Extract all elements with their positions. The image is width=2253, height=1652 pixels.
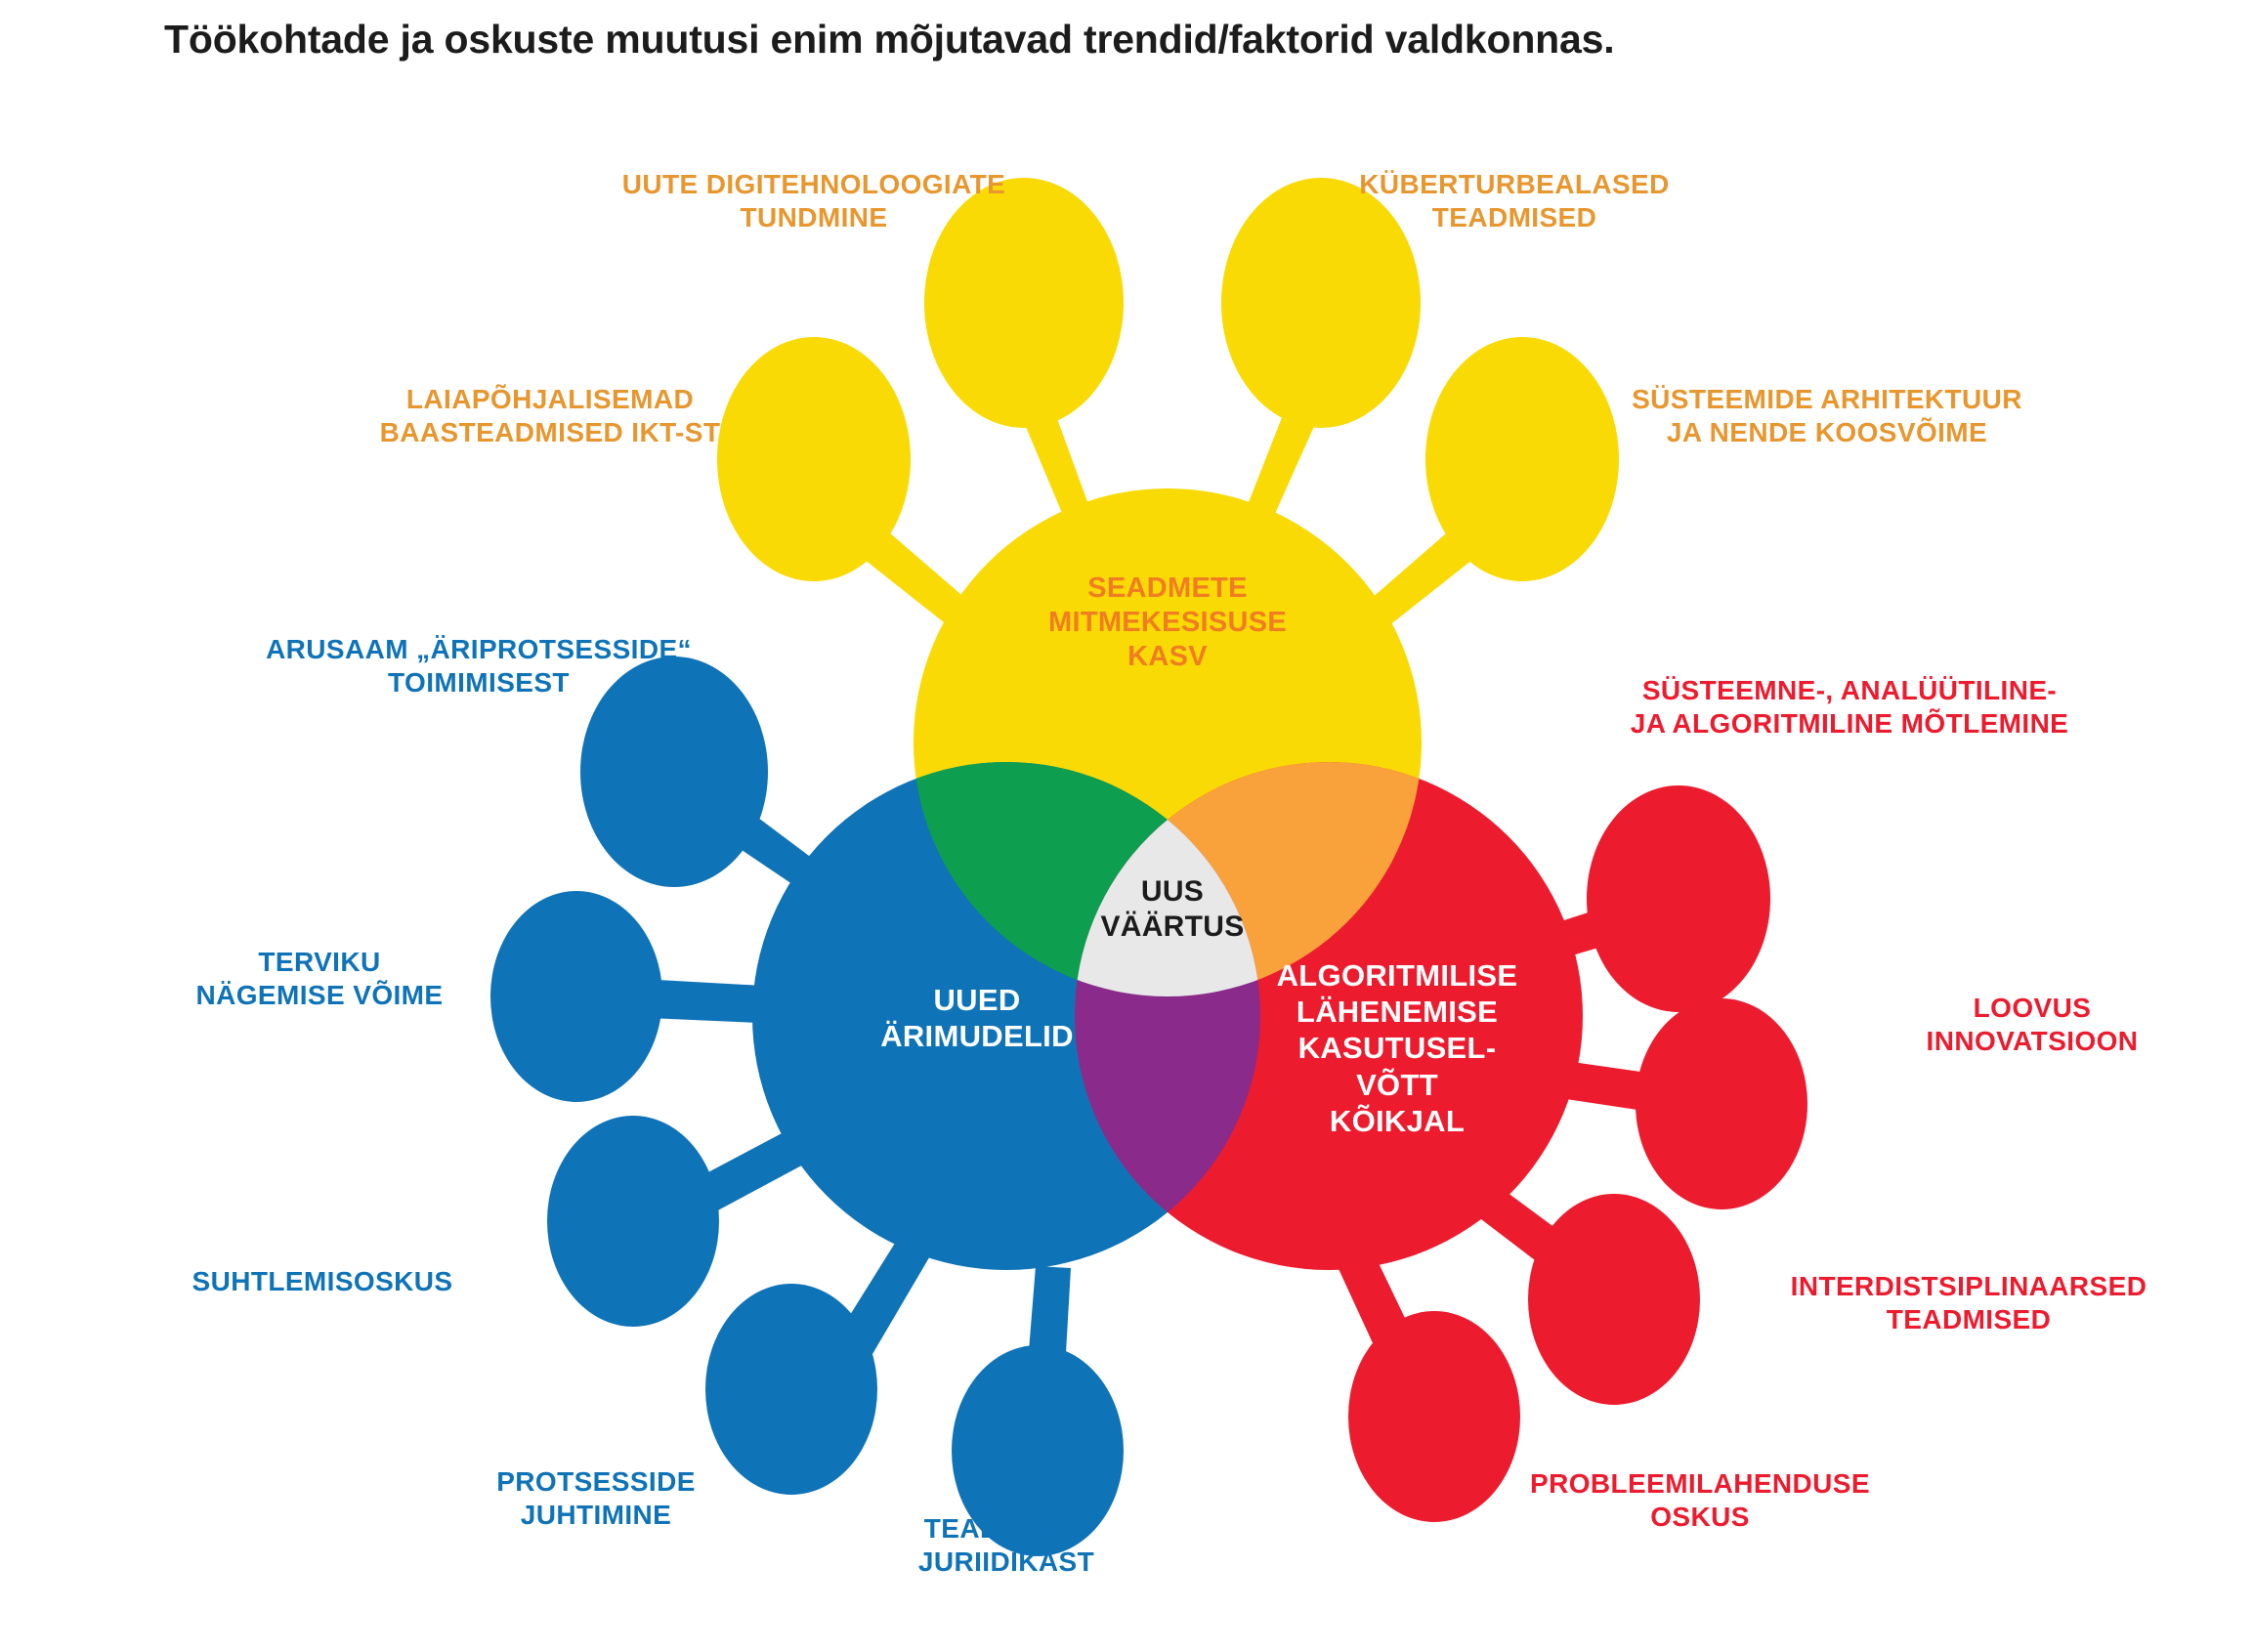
label-terviku-nagemise-voime: TERVIKU NÄGEMISE VÕIME [149, 946, 490, 1012]
label-teadmised-juriidikast: TEADMISED JURIIDIKAST [840, 1512, 1172, 1579]
label-susteemide-arhitektuur-ja-nende-koosvoime: SÜSTEEMIDE ARHITEKTUUR JA NENDE KOOSVÕIM… [1583, 383, 2071, 449]
venn-label-business: UUED ÄRIMUDELID [826, 982, 1128, 1054]
label-arusaam-ariprotsesside-toimimisest: ARUSAAM „ÄRIPROTSESSIDE“ TOIMIMISEST [234, 633, 723, 699]
label-suhtlemisoskus: SUHTLEMISOSKUS [156, 1265, 489, 1298]
label-kuberturbealased-teadmised: KÜBERTURBEALASED TEADMISED [1299, 168, 1729, 234]
label-protsesside-juhtimine: PROTSESSIDE JUHTIMINE [430, 1465, 762, 1532]
bubble-susteemne-analuutiline-ja-algoritmiline-motlemine[interactable] [1587, 785, 1770, 1012]
bubble-interdistsiplinaarsed-teadmised[interactable] [1528, 1194, 1700, 1405]
bubble-susteemide-arhitektuur-ja-nende-koosvoime[interactable] [1425, 337, 1619, 581]
label-susteemne-analuutiline-ja-algoritmiline-motlemine: SÜSTEEMNE-, ANALÜÜTILINE- JA ALGORITMILI… [1600, 674, 2099, 741]
bubble-terviku-nagemise-voime[interactable] [490, 891, 662, 1102]
label-uute-digitehnoloogiate-tundmine: UUTE DIGITEHNOLOOGIATE TUNDMINE [584, 168, 1043, 234]
label-laiapohjalisemad-baasteadmised-ikt-st: LAIAPÕHJALISEMAD BAASTEADMISED IKT-ST [330, 383, 770, 449]
bubble-suhtlemisoskus[interactable] [547, 1116, 719, 1327]
venn-label-algorithmic: ALGORITMILISE LÄHENEMISE KASUTUSEL- VÕTT… [1260, 957, 1534, 1139]
bubble-loovus-innovatsioon[interactable] [1636, 998, 1807, 1209]
venn-label-center: UUS VÄÄRTUS [1055, 874, 1290, 945]
label-loovus-innovatsioon: LOOVUS INNOVATSIOON [1856, 992, 2208, 1058]
label-probleemilahenduse-oskus: PROBLEEMILAHENDUSE OSKUS [1485, 1467, 1915, 1534]
diagram-canvas: Töökohtade ja oskuste muutusi enim mõjut… [0, 0, 2253, 1652]
venn-diagram-graphic [0, 0, 2253, 1652]
bubble-laiapohjalisemad-baasteadmised-ikt-st[interactable] [717, 337, 911, 581]
venn-label-technology: SEADMETE MITMEKESISUSE KASV [992, 572, 1343, 673]
label-interdistsiplinaarsed-teadmised: INTERDISTSIPLINAARSED TEADMISED [1749, 1270, 2189, 1336]
bubble-protsesside-juhtimine[interactable] [705, 1284, 877, 1495]
